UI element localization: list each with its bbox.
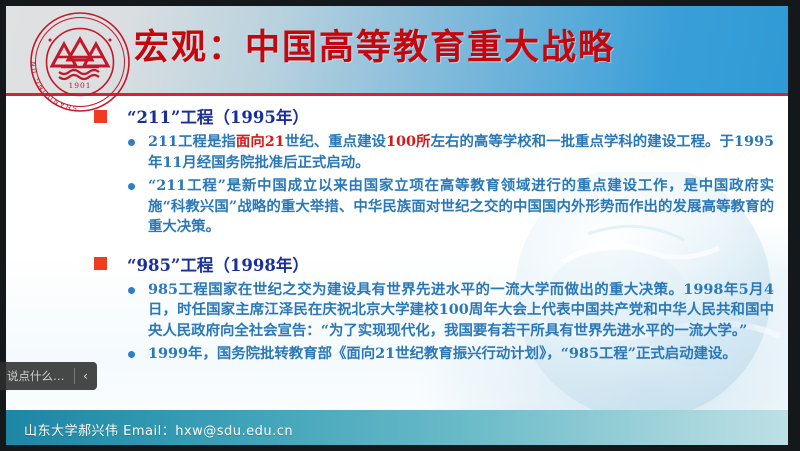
section-211: “211”工程（1995年） 211工程是指面向21世纪、重点建设100所左右的… bbox=[94, 104, 774, 238]
slide-title: 宏观：中国高等教育重大战略 bbox=[134, 19, 615, 70]
slide-header: 1901 SHANDONG UNIVERSITY 宏观：中国高等教育重大战略 bbox=[6, 6, 788, 96]
section-985-heading: “985”工程（1998年） bbox=[94, 252, 774, 276]
footer-contact-text: 山东大学郝兴伟 Email：hxw@sdu.edu.cn bbox=[24, 420, 293, 439]
round-bullet-icon bbox=[128, 287, 135, 294]
round-bullet-icon bbox=[128, 183, 135, 190]
slide-footer: 山东大学郝兴伟 Email：hxw@sdu.edu.cn bbox=[6, 410, 788, 445]
chevron-left-icon[interactable]: ‹ bbox=[75, 362, 97, 390]
section-211-title: “211”工程（1995年） bbox=[127, 104, 309, 128]
video-player-stage: 1901 SHANDONG UNIVERSITY 宏观：中国高等教育重大战略 bbox=[0, 0, 800, 451]
bullet-text: 1999年，国务院批转教育部《面向21世纪教育振兴行动计划》，“985工程”正式… bbox=[148, 344, 737, 365]
bullet-text: “211工程”是新中国成立以来由国家立项在高等教育领域进行的重点建设工作，是中国… bbox=[148, 176, 774, 238]
section-985: “985”工程（1998年） 985工程国家在世纪之交为建设具有世界先进水平的一… bbox=[94, 252, 774, 365]
svg-text:1901: 1901 bbox=[68, 81, 91, 90]
round-bullet-icon bbox=[128, 139, 135, 146]
square-bullet-icon bbox=[94, 257, 107, 270]
bullet-item: “211工程”是新中国成立以来由国家立项在高等教育领域进行的重点建设工作，是中国… bbox=[94, 176, 774, 238]
section-211-heading: “211”工程（1995年） bbox=[94, 104, 774, 128]
chat-input-overlay[interactable]: 说点什么… ‹ bbox=[0, 362, 97, 390]
round-bullet-icon bbox=[128, 351, 135, 358]
slide-content: “211”工程（1995年） 211工程是指面向21世纪、重点建设100所左右的… bbox=[6, 96, 788, 365]
slide-body: “211”工程（1995年） 211工程是指面向21世纪、重点建设100所左右的… bbox=[6, 96, 788, 445]
bullet-item: 211工程是指面向21世纪、重点建设100所左右的高等学校和一批重点学科的建设工… bbox=[94, 132, 774, 173]
presentation-slide: 1901 SHANDONG UNIVERSITY 宏观：中国高等教育重大战略 bbox=[6, 6, 788, 445]
chat-input-placeholder[interactable]: 说点什么… bbox=[0, 362, 74, 390]
section-985-title: “985”工程（1998年） bbox=[127, 252, 309, 276]
shandong-university-emblem-icon: 1901 SHANDONG UNIVERSITY bbox=[28, 10, 132, 114]
bullet-item: 985工程国家在世纪之交为建设具有世界先进水平的一流大学而做出的重大决策。199… bbox=[94, 280, 774, 342]
bullet-text: 211工程是指面向21世纪、重点建设100所左右的高等学校和一批重点学科的建设工… bbox=[148, 132, 774, 173]
bullet-item: 1999年，国务院批转教育部《面向21世纪教育振兴行动计划》，“985工程”正式… bbox=[94, 344, 774, 365]
bullet-text: 985工程国家在世纪之交为建设具有世界先进水平的一流大学而做出的重大决策。199… bbox=[148, 280, 774, 342]
